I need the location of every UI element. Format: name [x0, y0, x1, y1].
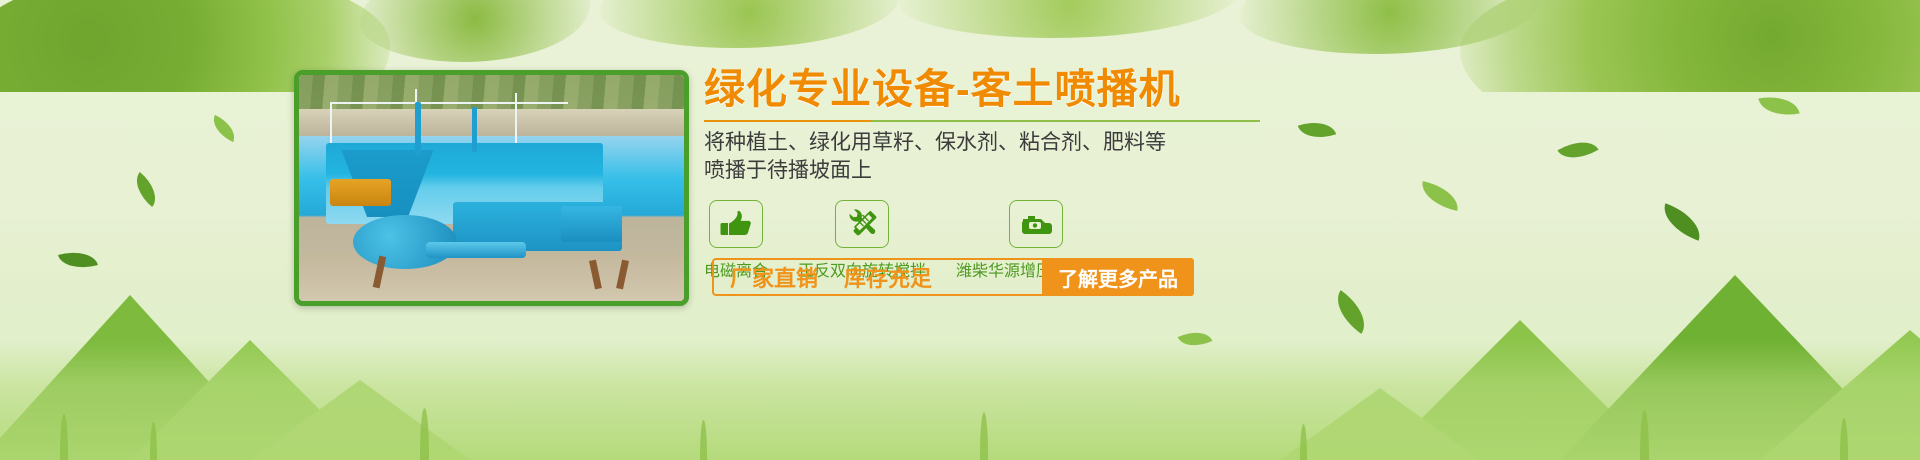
banner-subtitle-line-1: 将种植土、绿化用草籽、保水剂、粘合剂、肥料等 — [704, 129, 1304, 157]
feature-icon-box — [709, 200, 763, 248]
product-photo — [294, 70, 689, 306]
grass-foreground — [0, 340, 1920, 460]
thumbs-up-icon — [720, 210, 752, 238]
photo-railing — [330, 102, 569, 104]
learn-more-button[interactable]: 了解更多产品 — [1042, 258, 1194, 296]
foliage-blob — [360, 0, 590, 62]
photo-machine-post — [415, 102, 421, 156]
photo-railing — [330, 102, 332, 143]
photo-machine-motor — [330, 179, 392, 206]
cta-text-group: 厂家直销 库存充足 — [714, 260, 1042, 294]
photo-machine-pipe — [426, 242, 526, 258]
photo-machine-post — [472, 107, 477, 152]
photo-machine-box — [561, 206, 623, 242]
promo-banner: 绿化专业设备-客土喷播机 将种植土、绿化用草籽、保水剂、粘合剂、肥料等 喷播于待… — [0, 0, 1920, 460]
product-photo-image — [299, 75, 684, 301]
leaf-decoration — [208, 115, 241, 142]
banner-subtitle-line-2: 喷播于待播坡面上 — [704, 157, 1304, 185]
title-divider — [704, 120, 1260, 122]
cta-text-factory-direct: 厂家直销 — [730, 261, 818, 293]
leaf-decoration — [1758, 92, 1799, 120]
engine-icon — [1019, 210, 1053, 238]
cta-text-stock: 库存充足 — [844, 261, 932, 293]
leaf-decoration — [1557, 132, 1598, 167]
wrench-screwdriver-icon — [846, 209, 878, 239]
foliage-blob — [900, 0, 1240, 38]
photo-railing — [515, 93, 517, 143]
cta-bar: 厂家直销 库存充足 了解更多产品 — [712, 258, 1194, 296]
banner-content: 绿化专业设备-客土喷播机 将种植土、绿化用草籽、保水剂、粘合剂、肥料等 喷播于待… — [704, 68, 1304, 281]
photo-wall — [299, 109, 684, 136]
foliage-blob — [600, 0, 900, 48]
banner-title: 绿化专业设备-客土喷播机 — [704, 68, 1304, 111]
feature-icon-box — [835, 200, 889, 248]
photo-trees — [299, 75, 684, 113]
feature-icon-box — [1009, 200, 1063, 248]
leaf-decoration — [128, 172, 165, 207]
leaf-decoration — [1418, 181, 1462, 211]
